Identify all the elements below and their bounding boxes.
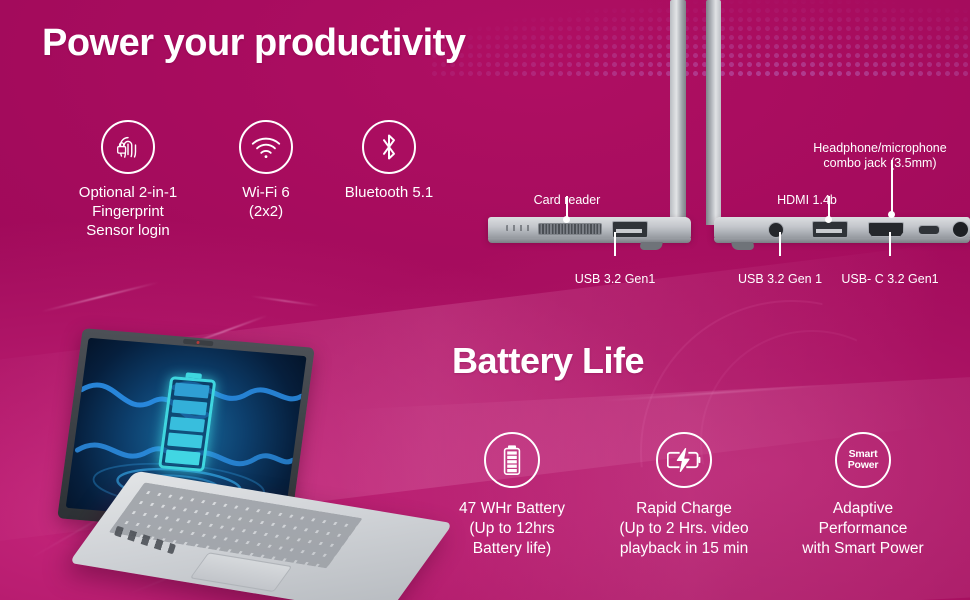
light-streak	[250, 295, 320, 307]
feature-label: Optional 2-in-1 Fingerprint Sensor login	[62, 183, 194, 240]
callout-hdmi: HDMI 1.4b	[752, 178, 862, 208]
laptop-lid-edge	[706, 0, 721, 225]
feature-label: Wi-Fi 6 (2x2)	[208, 183, 324, 221]
light-streak	[42, 282, 159, 313]
callout-audio-jack: Headphone/microphone combo jack (3.5mm)	[790, 126, 970, 171]
leader-line-audio-jack	[891, 160, 893, 212]
fingerprint-lock-icon	[101, 120, 155, 174]
callout-usb-c: USB- C 3.2 Gen1	[828, 257, 952, 287]
leader-dot-card-reader	[563, 216, 570, 223]
power-jack-port	[768, 222, 784, 238]
smart-power-icon: Smart Power	[835, 432, 891, 488]
laptop-hero-image	[58, 330, 458, 595]
port-indicator-icons	[506, 225, 532, 231]
wifi-icon	[239, 120, 293, 174]
leader-line-usb-right	[779, 232, 781, 256]
feature-wifi: Wi-Fi 6 (2x2)	[208, 120, 324, 221]
callout-usb-left: USB 3.2 Gen1	[555, 257, 675, 287]
usb-a-port-tongue	[816, 229, 842, 233]
feature-smart-power: Smart Power Adaptive Performance with Sm…	[790, 432, 936, 559]
leader-line-hdmi	[828, 196, 830, 218]
usb-a-port-tongue	[616, 229, 642, 233]
feature-fingerprint: Optional 2-in-1 Fingerprint Sensor login	[62, 120, 194, 240]
leader-dot-audio-jack	[888, 211, 895, 218]
feature-label: 47 WHr Battery (Up to 12hrs Battery life…	[450, 499, 574, 559]
callout-label: USB- C 3.2 Gen1	[841, 272, 938, 286]
product-feature-banner: Power your productivity Optional 2-in-1 …	[0, 0, 970, 600]
battery-full-icon	[484, 432, 540, 488]
battery-bolt-icon	[656, 432, 712, 488]
smart-power-badge-text: Smart Power	[848, 449, 879, 472]
leader-line-card-reader	[566, 196, 568, 218]
laptop-lid-edge	[670, 0, 686, 225]
dot-matrix-pattern	[430, 0, 970, 80]
feature-rapid-charge: Rapid Charge (Up to 2 Hrs. video playbac…	[608, 432, 760, 559]
laptop-right-side-profile	[700, 205, 970, 255]
card-reader-slot	[538, 223, 602, 235]
feature-label: Adaptive Performance with Smart Power	[790, 499, 936, 559]
callout-label: USB 3.2 Gen1	[575, 272, 656, 286]
leader-dot-hdmi	[825, 216, 832, 223]
laptop-foot	[731, 242, 755, 250]
leader-line-usb-left	[614, 232, 616, 256]
callout-label: USB 3.2 Gen 1	[738, 272, 822, 286]
callout-usb-right: USB 3.2 Gen 1	[720, 257, 840, 287]
feature-label: Bluetooth 5.1	[330, 183, 448, 202]
feature-battery-capacity: 47 WHr Battery (Up to 12hrs Battery life…	[450, 432, 574, 559]
feature-label: Rapid Charge (Up to 2 Hrs. video playbac…	[608, 499, 760, 559]
hdmi-port	[868, 222, 904, 237]
smart-power-line2: Power	[848, 460, 879, 472]
keyboard-keys	[109, 482, 363, 568]
bluetooth-icon	[362, 120, 416, 174]
leader-line-usb-c	[889, 232, 891, 256]
light-streak	[600, 384, 830, 402]
audio-jack-port	[952, 221, 969, 238]
feature-bluetooth: Bluetooth 5.1	[330, 120, 448, 202]
callout-label: Headphone/microphone combo jack (3.5mm)	[813, 141, 946, 170]
usb-c-port	[918, 225, 940, 235]
laptop-left-side-profile	[488, 205, 703, 255]
page-title-power: Power your productivity	[42, 22, 465, 65]
page-title-battery: Battery Life	[452, 340, 644, 382]
laptop-foot	[639, 242, 663, 250]
